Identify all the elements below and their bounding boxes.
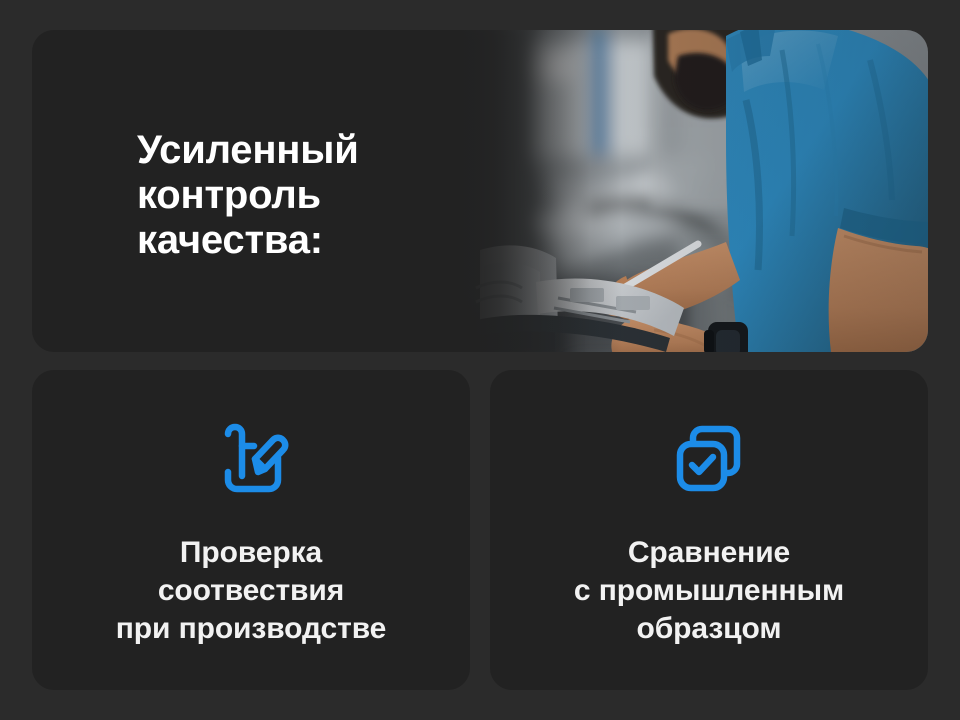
page-title: Усиленный контроль качества: bbox=[137, 128, 437, 263]
feature-label: Проверка соотвествия при производстве bbox=[32, 534, 470, 648]
duplicate-check-icon bbox=[667, 418, 751, 502]
worker-inspecting-documents-photo bbox=[440, 30, 928, 352]
photo-illustration bbox=[440, 30, 928, 352]
feature-label: Сравнение с промышленным образцом bbox=[490, 534, 928, 648]
feature-card-inspection[interactable]: Проверка соотвествия при производстве bbox=[32, 370, 470, 690]
hero-card: Усиленный контроль качества: bbox=[32, 30, 928, 352]
document-pencil-icon bbox=[209, 418, 293, 502]
infographic-slide: Усиленный контроль качества: Проверка со… bbox=[0, 0, 960, 720]
feature-card-comparison[interactable]: Сравнение с промышленным образцом bbox=[490, 370, 928, 690]
